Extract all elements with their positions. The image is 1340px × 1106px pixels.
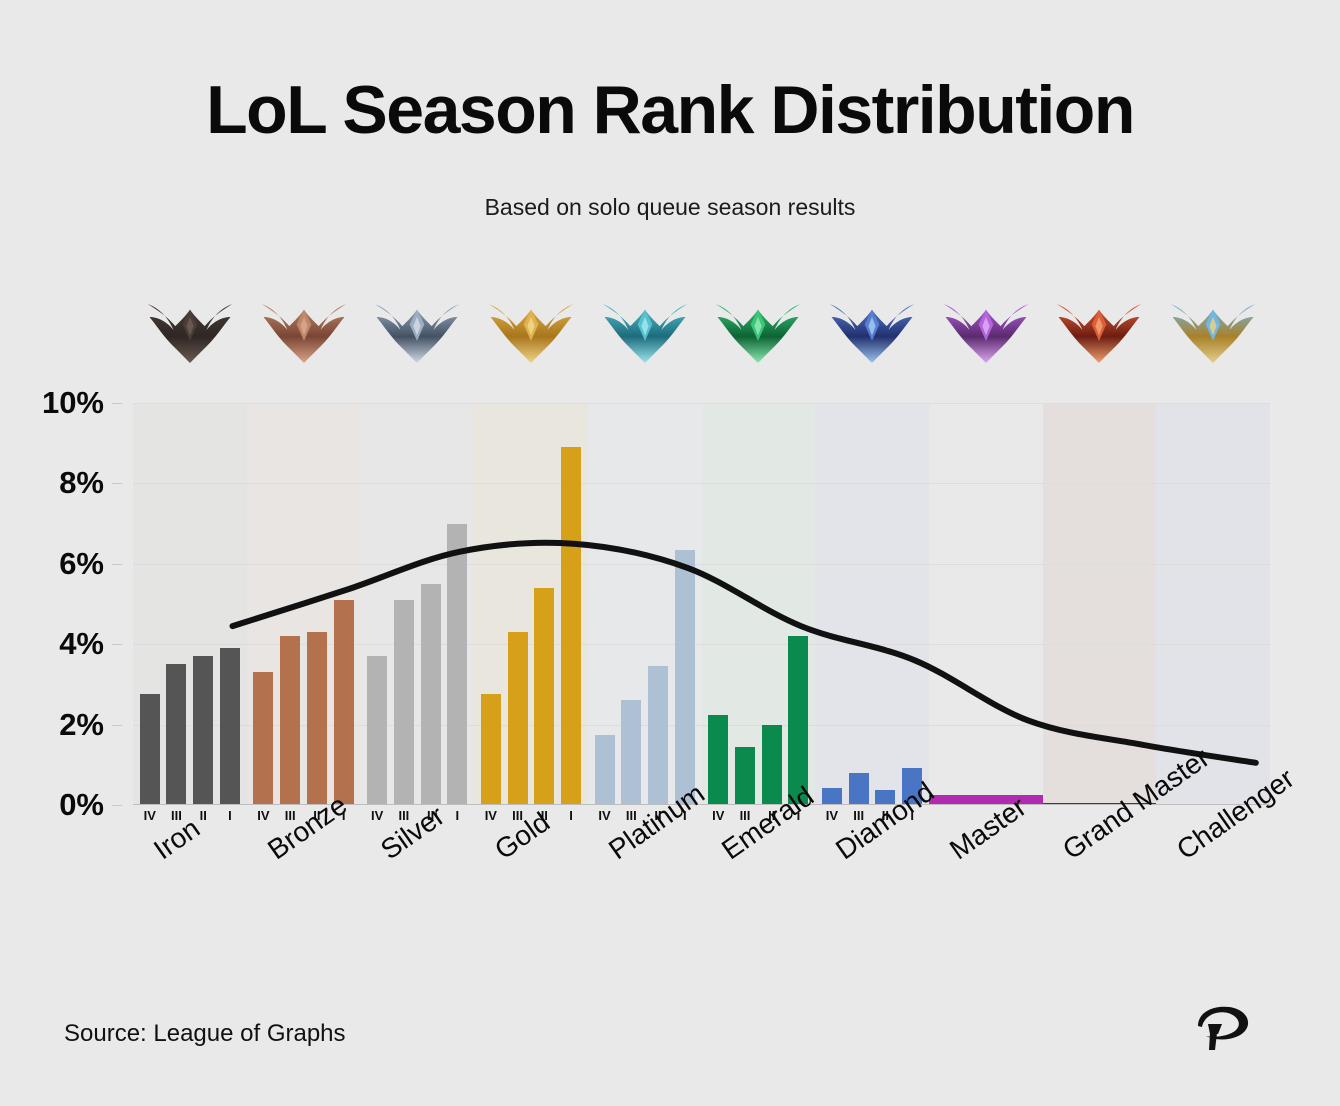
tier-name-cell-silver: Silver (360, 832, 474, 992)
tier-name-cell-diamond: Diamond (815, 832, 929, 992)
silver-emblem (371, 289, 463, 367)
challenger-emblem (1167, 289, 1259, 367)
tier-name-labels: IronBronzeSilverGoldPlatinumEmeraldDiamo… (133, 832, 1270, 992)
y-tick-mark-10 (112, 403, 122, 404)
emblem-cell-challenger (1156, 280, 1270, 375)
division-label-i: I (561, 808, 581, 832)
plot-area (133, 403, 1270, 805)
source-caption: Source: League of Graphs (64, 1020, 346, 1048)
division-label-iv: IV (140, 808, 160, 832)
emblem-cell-diamond (815, 280, 929, 375)
y-tick-label-8: 8% (59, 465, 104, 501)
iron-emblem (144, 289, 236, 367)
emblem-cell-emerald (702, 280, 816, 375)
emblem-cell-grand-master (1043, 280, 1157, 375)
y-tick-label-4: 4% (59, 626, 104, 662)
page-title: LoL Season Rank Distribution (0, 76, 1340, 144)
grandmaster-emblem (1053, 289, 1145, 367)
division-label-i: I (447, 808, 467, 832)
gold-emblem (485, 289, 577, 367)
y-tick-label-10: 10% (42, 385, 104, 421)
tier-name-cell-iron: Iron (133, 832, 247, 992)
division-label-iv: IV (708, 808, 728, 832)
y-tick-mark-6 (112, 564, 122, 565)
division-label-i: I (220, 808, 240, 832)
diamond-emblem (826, 289, 918, 367)
platinum-emblem (599, 289, 691, 367)
tier-name-cell-emerald: Emerald (702, 832, 816, 992)
emerald-emblem (712, 289, 804, 367)
page-subtitle: Based on solo queue season results (0, 194, 1340, 221)
emblem-cell-silver (360, 280, 474, 375)
tier-name-cell-platinum: Platinum (588, 832, 702, 992)
division-label-iv: IV (481, 808, 501, 832)
bronze-emblem (258, 289, 350, 367)
tier-name-cell-grand-master: Grand Master (1043, 832, 1157, 992)
y-tick-label-0: 0% (59, 787, 104, 823)
emblem-cell-master (929, 280, 1043, 375)
emblem-cell-iron (133, 280, 247, 375)
y-axis: 0%2%4%6%8%10% (0, 403, 122, 805)
emblem-cell-gold (474, 280, 588, 375)
rank-emblem-row (133, 280, 1270, 375)
y-tick-mark-8 (112, 483, 122, 484)
y-tick-label-6: 6% (59, 546, 104, 582)
division-label-iv: IV (822, 808, 842, 832)
y-tick-label-2: 2% (59, 707, 104, 743)
emblem-cell-bronze (247, 280, 361, 375)
division-label-iv: IV (367, 808, 387, 832)
y-tick-mark-0 (112, 805, 122, 806)
distribution-curve (133, 403, 1270, 805)
tier-name-cell-master: Master (929, 832, 1043, 992)
tier-name-cell-challenger: Challenger (1156, 832, 1270, 992)
y-tick-mark-4 (112, 644, 122, 645)
tier-name-cell-gold: Gold (474, 832, 588, 992)
p-ribbon-logo (1188, 1000, 1256, 1054)
emblem-cell-platinum (588, 280, 702, 375)
division-label-iv: IV (253, 808, 273, 832)
division-label-iv: IV (595, 808, 615, 832)
master-emblem (940, 289, 1032, 367)
tier-name-cell-bronze: Bronze (247, 832, 361, 992)
chart-page: LoL Season Rank Distribution Based on so… (0, 0, 1340, 1106)
y-tick-mark-2 (112, 725, 122, 726)
